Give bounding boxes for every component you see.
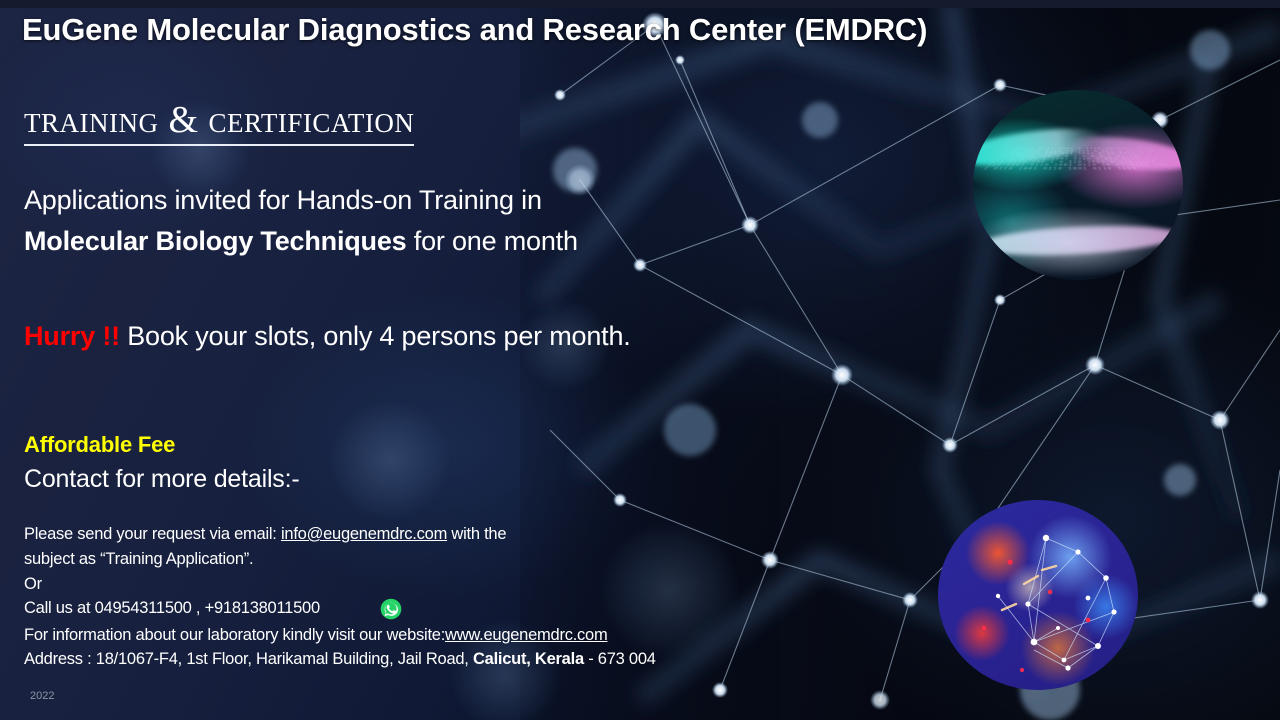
page-title: EuGene Molecular Diagnostics and Researc…	[22, 12, 927, 48]
hurry-label: Hurry !!	[24, 321, 120, 351]
phone-mobile[interactable]: +918138011500	[205, 599, 320, 617]
whatsapp-icon[interactable]	[380, 598, 402, 620]
applications-paragraph: Applications invited for Hands-on Traini…	[24, 180, 578, 262]
contact-heading: Contact for more details:-	[24, 465, 299, 494]
hurry-paragraph: Hurry !! Book your slots, only 4 persons…	[24, 316, 664, 356]
phone-line: Call us at 04954311500 , +918138011500	[24, 599, 320, 618]
email-suffix: with the	[447, 525, 506, 543]
email-subject-line: subject as “Training Application”.	[24, 550, 253, 569]
email-link[interactable]: info@eugenemdrc.com	[281, 525, 447, 543]
digital-wave-circle-image: 01001101 0110 1001 0 1100 1010011 0110 1…	[973, 90, 1183, 280]
hurry-text: Book your slots, only 4 persons per mont…	[120, 321, 631, 351]
year-label: 2022	[30, 690, 54, 702]
molecule-lattice	[938, 500, 1138, 690]
applications-line1: Applications invited for Hands-on Traini…	[24, 185, 542, 215]
applications-bold: Molecular Biology Techniques	[24, 226, 406, 256]
address-suffix: - 673 004	[584, 650, 656, 668]
or-line: Or	[24, 575, 42, 594]
website-line: For information about our laboratory kin…	[24, 626, 607, 645]
network-nodes-background	[520, 0, 1280, 720]
address-line: Address : 18/1067-F4, 1st Floor, Harikam…	[24, 650, 656, 669]
call-prefix: Call us at	[24, 599, 95, 617]
address-city: Calicut, Kerala	[473, 650, 584, 668]
website-prefix: For information about our laboratory kin…	[24, 626, 445, 644]
molecular-network-circle-image	[938, 500, 1138, 690]
section-heading: TRAINING & CERTIFICATION	[24, 98, 414, 146]
email-prefix: Please send your request via email:	[24, 525, 281, 543]
phone-landline[interactable]: 04954311500	[95, 599, 192, 617]
address-prefix: Address : 18/1067-F4, 1st Floor, Harikam…	[24, 650, 473, 668]
phone-separator: ,	[192, 599, 205, 617]
promotional-flyer-slide: 01001101 0110 1001 0 1100 1010011 0110 1…	[0, 0, 1280, 720]
affordable-fee-label: Affordable Fee	[24, 432, 175, 458]
applications-tail: for one month	[406, 226, 577, 256]
website-link[interactable]: www.eugenemdrc.com	[445, 626, 607, 644]
email-instruction-line: Please send your request via email: info…	[24, 525, 506, 544]
top-strip	[0, 0, 1280, 8]
